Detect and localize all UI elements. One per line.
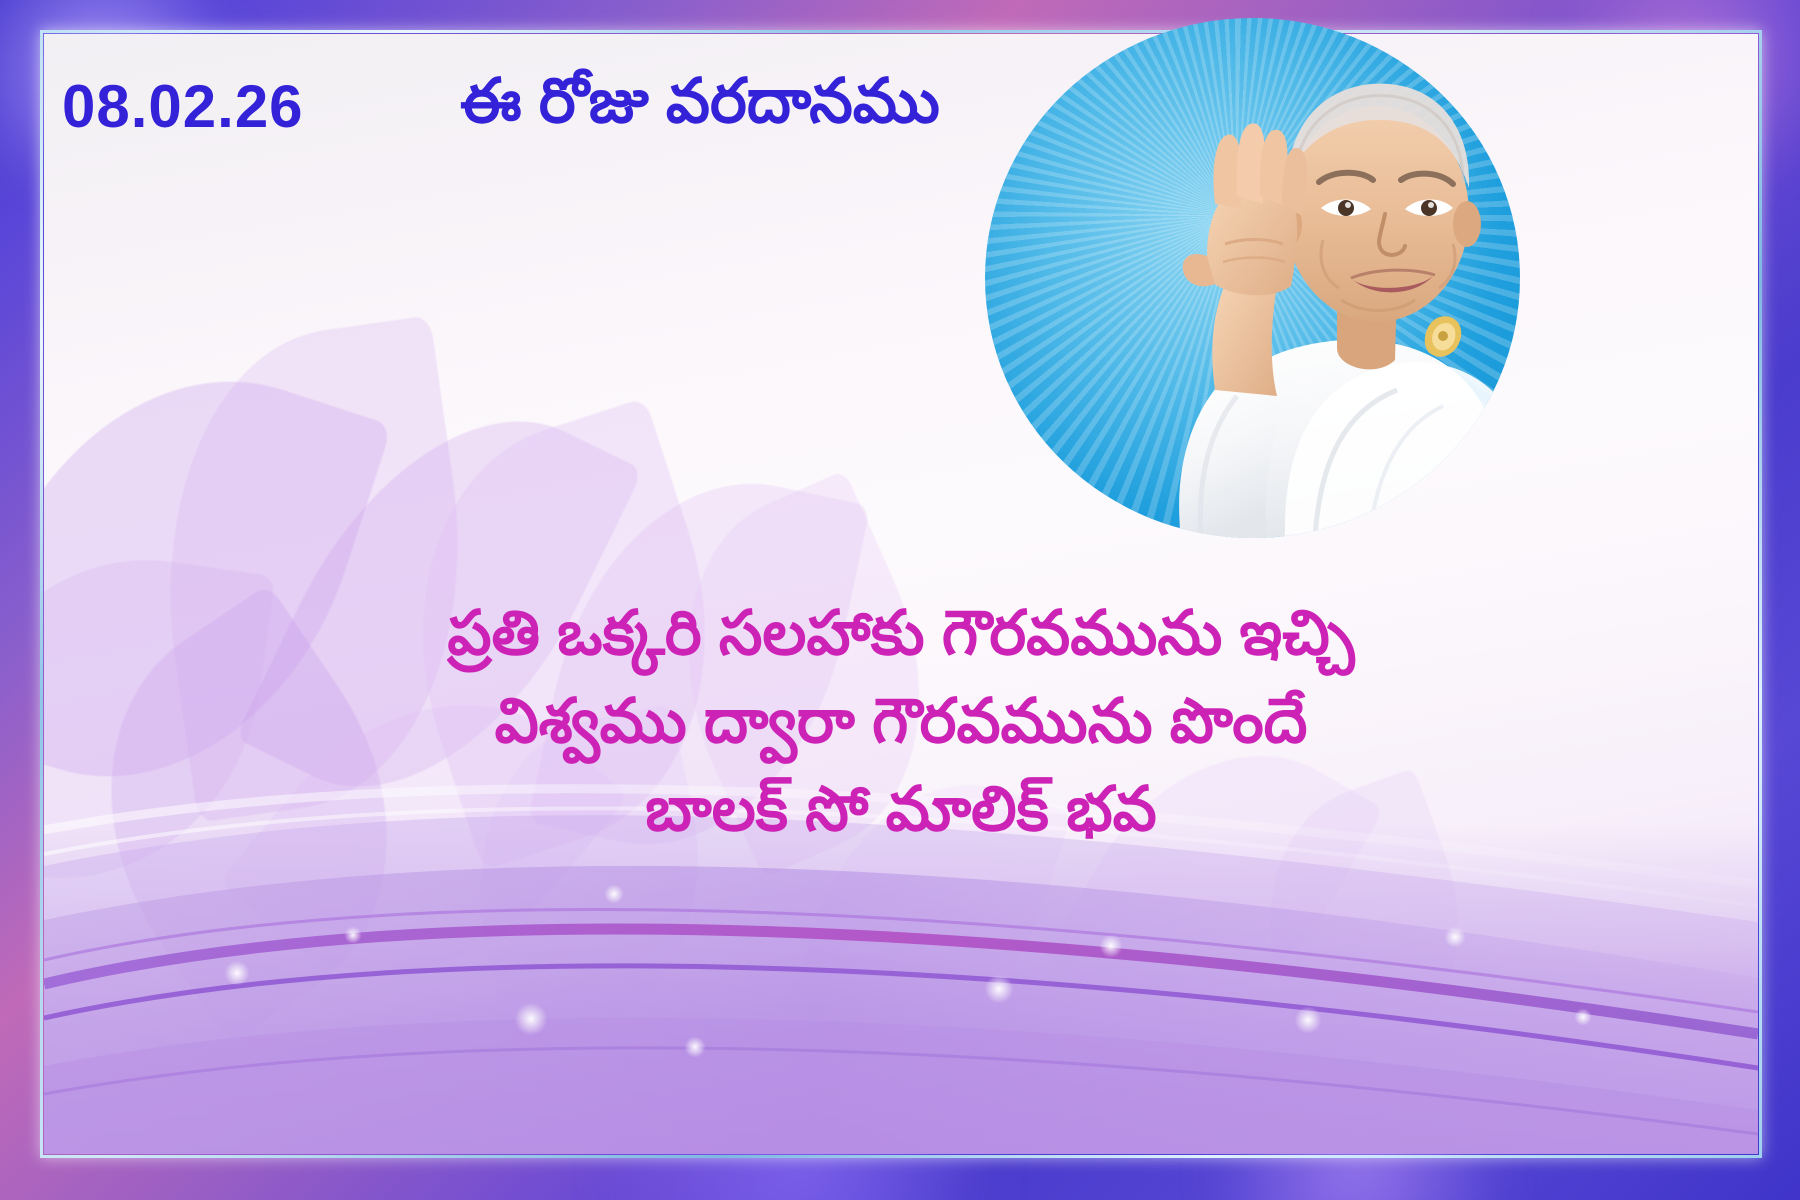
message-line-3: బాలక్ సో మాలిక్ భవ (44, 766, 1758, 854)
message-line-2: విశ్వము ద్వారా గౌరవమును పొందే (44, 678, 1758, 766)
portrait-photo (985, 18, 1520, 538)
message-line-1: ప్రతి ఒక్కరి సలహాకు గౌరవమును ఇచ్చి (44, 590, 1758, 678)
message-block: ప్రతి ఒక్కరి సలహాకు గౌరవమును ఇచ్చి విశ్వ… (44, 590, 1758, 854)
page-title: ఈ రోజు వరదానము (460, 66, 940, 152)
portrait-figure (985, 18, 1520, 538)
date-label: 08.02.26 (62, 72, 304, 141)
poster-root: 08.02.26 ఈ రోజు వరదానము ప్రతి ఒక్కరి సలహ… (0, 0, 1800, 1200)
